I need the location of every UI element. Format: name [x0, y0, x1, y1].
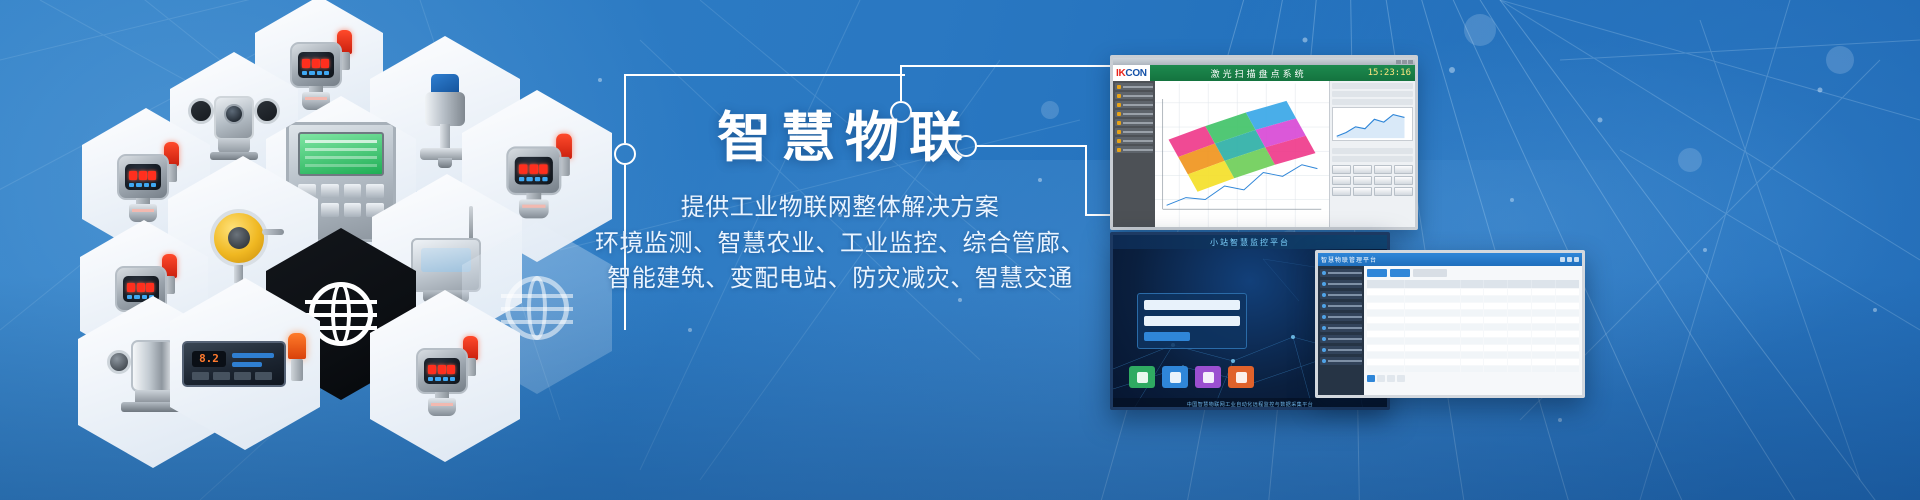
page-4 — [1397, 375, 1405, 382]
window-titlebar — [1113, 58, 1415, 65]
username-field — [1144, 300, 1240, 310]
table-pagination[interactable] — [1367, 375, 1579, 382]
subtitle-line-1: 提供工业物联网整体解决方案 — [560, 190, 1120, 225]
console-toolbar[interactable] — [1367, 269, 1579, 277]
table-row — [1367, 324, 1579, 330]
table-row — [1367, 352, 1579, 358]
console-title: 智慧物联管理平台 — [1321, 255, 1377, 264]
app-window-title: 激光扫描盘点系统 — [1150, 67, 1368, 80]
sidebar-item[interactable] — [1320, 302, 1362, 310]
sidebar-item[interactable] — [1320, 313, 1362, 321]
dashboard-title: 小站智慧监控平台 — [1210, 237, 1290, 248]
console-main — [1364, 266, 1582, 398]
iot-hero-banner: 8.2 智慧物联 提供工业物联网整体 — [0, 0, 1920, 500]
brand-suffix: CON — [1125, 68, 1146, 79]
sidebar-item[interactable] — [1115, 92, 1153, 99]
sidebar-item[interactable] — [1115, 146, 1153, 153]
toolbar-search-field — [1413, 269, 1447, 277]
toolbar-export-button — [1390, 269, 1410, 277]
table-body[interactable] — [1367, 289, 1579, 372]
software-screenshots-group: IKCON 激光扫描盘点系统 15:23:16 — [1110, 40, 1900, 400]
dashboard-footer: 中国智慧物联网工业自动化远程监控与数据采集平台 — [1113, 398, 1387, 410]
screenshot-data-management-console[interactable]: 智慧物联管理平台 — [1315, 250, 1585, 398]
app-logo: IKCON — [1113, 65, 1150, 81]
sidebar-item[interactable] — [1115, 101, 1153, 108]
quick-icon-alarm[interactable] — [1195, 366, 1221, 388]
sidebar-item[interactable] — [1320, 346, 1362, 354]
sidebar-item[interactable] — [1320, 324, 1362, 332]
hero-text-block: 智慧物联 提供工业物联网整体解决方案 环境监测、智慧农业、工业监控、综合管廊、 … — [560, 108, 1120, 296]
login-button — [1144, 332, 1190, 341]
scan-canvas[interactable] — [1155, 81, 1329, 230]
password-field — [1144, 316, 1240, 326]
page-1 — [1367, 375, 1375, 382]
quick-action-icons[interactable] — [1129, 366, 1254, 388]
sidebar-item[interactable] — [1115, 110, 1153, 117]
quick-icon-device[interactable] — [1228, 366, 1254, 388]
sidebar-item[interactable] — [1115, 83, 1153, 90]
table-row — [1367, 310, 1579, 316]
table-header-row — [1367, 280, 1579, 288]
table-row — [1367, 289, 1579, 295]
mini-chart — [1332, 107, 1413, 141]
sidebar-item[interactable] — [1320, 269, 1362, 277]
subtitle-line-3: 智能建筑、变配电站、防灾减灾、智慧交通 — [560, 261, 1120, 296]
sidebar-item[interactable] — [1115, 137, 1153, 144]
table-row — [1367, 345, 1579, 351]
page-title: 智慧物联 — [560, 108, 1120, 168]
table-row — [1367, 317, 1579, 323]
page-3 — [1387, 375, 1395, 382]
screenshot-laser-scanning-system[interactable]: IKCON 激光扫描盘点系统 15:23:16 — [1110, 55, 1418, 230]
toolbar-add-button — [1367, 269, 1387, 277]
subtitle-line-2: 环境监测、智慧农业、工业监控、综合管廊、 — [560, 226, 1120, 261]
table-row — [1367, 296, 1579, 302]
table-row — [1367, 331, 1579, 337]
table-row — [1367, 338, 1579, 344]
quick-icon-video[interactable] — [1162, 366, 1188, 388]
scan-map-svg — [1155, 81, 1329, 230]
quick-icon-environment[interactable] — [1129, 366, 1155, 388]
app-body — [1113, 81, 1415, 230]
table-row — [1367, 303, 1579, 309]
console-titlebar: 智慧物联管理平台 — [1318, 253, 1582, 266]
sidebar-item[interactable] — [1320, 280, 1362, 288]
brand-prefix: IK — [1116, 68, 1125, 79]
app-right-panel[interactable] — [1329, 81, 1415, 230]
dashboard-footer-text: 中国智慧物联网工业自动化远程监控与数据采集平台 — [1187, 401, 1314, 408]
table-row — [1367, 366, 1579, 372]
window-controls[interactable] — [1560, 257, 1579, 262]
console-sidebar[interactable] — [1318, 266, 1364, 398]
subtitle-block: 提供工业物联网整体解决方案 环境监测、智慧农业、工业监控、综合管廊、 智能建筑、… — [560, 190, 1120, 295]
dashboard-header: 小站智慧监控平台 — [1113, 235, 1387, 249]
login-card[interactable] — [1137, 293, 1247, 349]
sidebar-item[interactable] — [1320, 335, 1362, 343]
app-sidebar[interactable] — [1113, 81, 1155, 230]
console-body — [1318, 266, 1582, 398]
app-header: IKCON 激光扫描盘点系统 15:23:16 — [1113, 65, 1415, 81]
table-row — [1367, 359, 1579, 365]
sidebar-item[interactable] — [1115, 119, 1153, 126]
sidebar-item[interactable] — [1115, 128, 1153, 135]
sidebar-item[interactable] — [1320, 291, 1362, 299]
page-2 — [1377, 375, 1385, 382]
app-clock: 15:23:16 — [1368, 68, 1415, 78]
sidebar-item[interactable] — [1320, 357, 1362, 365]
